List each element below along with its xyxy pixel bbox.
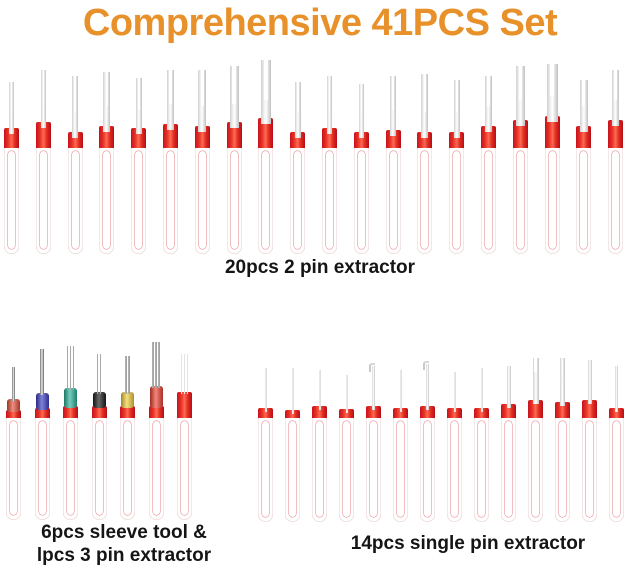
tool-handle bbox=[393, 412, 408, 522]
tool-handle bbox=[474, 412, 489, 522]
tool-handle bbox=[63, 412, 78, 520]
tool-single-pin-extractor bbox=[555, 372, 570, 522]
tool-single-pin-extractor bbox=[339, 372, 354, 522]
tool-fork-slot bbox=[582, 80, 585, 106]
tool-needle bbox=[615, 366, 618, 412]
tool-fork-slot bbox=[519, 66, 523, 100]
tool-prong bbox=[40, 349, 44, 395]
tool-needle bbox=[533, 358, 539, 404]
tool-sleeve-collar bbox=[150, 386, 163, 408]
tool-handle bbox=[528, 412, 543, 522]
tool-2-pin-extractor bbox=[481, 104, 496, 254]
tool-blade bbox=[421, 74, 428, 138]
tool-prong bbox=[181, 354, 183, 394]
tool-handle bbox=[420, 412, 435, 522]
tool-fork-slot bbox=[74, 76, 76, 112]
tool-single-pin-extractor bbox=[528, 372, 543, 522]
tool-blade bbox=[359, 84, 364, 138]
tool-single-pin-extractor bbox=[285, 372, 300, 522]
tool-fork-slot bbox=[487, 76, 490, 106]
tool-sleeve bbox=[35, 370, 50, 520]
tool-2-pin-extractor bbox=[68, 104, 83, 254]
tool-handle bbox=[481, 142, 496, 254]
tool-fork-slot bbox=[392, 76, 394, 110]
tool-handle bbox=[35, 412, 50, 520]
tool-fork-slot bbox=[456, 80, 458, 112]
tool-2-pin-extractor bbox=[258, 104, 273, 254]
tool-2-pin-extractor bbox=[576, 104, 591, 254]
tool-sleeve-collar bbox=[93, 392, 106, 408]
tool-fork-slot bbox=[138, 78, 140, 110]
tool-single-pin-extractor bbox=[366, 372, 381, 522]
tool-handle bbox=[449, 142, 464, 254]
tool-handle bbox=[417, 142, 432, 254]
tool-2-pin-extractor bbox=[354, 104, 369, 254]
tool-handle bbox=[68, 142, 83, 254]
tool-blade bbox=[136, 78, 142, 134]
tool-single-pin-extractor bbox=[420, 372, 435, 522]
tool-handle bbox=[609, 412, 624, 522]
tool-fork-slot bbox=[264, 60, 268, 100]
tool-prong bbox=[155, 342, 157, 388]
tool-2-pin-extractor bbox=[386, 104, 401, 254]
tool-needle bbox=[588, 360, 592, 404]
tool-2-pin-extractor bbox=[608, 104, 623, 254]
tool-handle bbox=[195, 142, 210, 254]
tool-sleeve-collar bbox=[36, 393, 49, 410]
tool-2-pin-extractor bbox=[36, 104, 51, 254]
tool-handle bbox=[354, 142, 369, 254]
tool-handle bbox=[555, 412, 570, 522]
tool-prong bbox=[158, 342, 160, 388]
tool-prong bbox=[67, 346, 69, 390]
tool-needle bbox=[346, 375, 348, 413]
tool-prong bbox=[97, 354, 99, 394]
tool-single-pin-extractor bbox=[501, 372, 516, 522]
tool-sleeve bbox=[63, 370, 78, 520]
tool-prong bbox=[70, 346, 72, 390]
tool-handle bbox=[120, 412, 135, 520]
tool-prong bbox=[184, 354, 186, 394]
tool-handle bbox=[149, 412, 164, 520]
tool-hook-tip bbox=[369, 363, 375, 372]
tool-2-pin-extractor bbox=[195, 104, 210, 254]
tool-prong bbox=[187, 354, 189, 394]
tool-fork-slot bbox=[201, 70, 204, 106]
tool-fork-slot bbox=[11, 82, 13, 112]
tool-handle bbox=[447, 412, 462, 522]
tool-handle bbox=[177, 412, 192, 520]
tool-blade bbox=[103, 72, 110, 132]
tool-fork-slot bbox=[43, 70, 45, 104]
tool-hook-tip bbox=[423, 361, 429, 370]
tool-handle bbox=[312, 412, 327, 522]
tool-sleeve bbox=[6, 370, 21, 520]
tool-needle bbox=[454, 372, 456, 412]
tool-handle bbox=[501, 412, 516, 522]
tool-2-pin-extractor bbox=[417, 104, 432, 254]
tool-3-pin-extractor bbox=[177, 370, 192, 520]
tool-row-single-pin-extractor bbox=[258, 378, 636, 522]
tool-fork-slot bbox=[361, 84, 363, 114]
tool-single-pin-extractor bbox=[447, 372, 462, 522]
tool-blade bbox=[485, 76, 492, 132]
tool-handle bbox=[339, 412, 354, 522]
tool-prong bbox=[73, 346, 75, 390]
tool-sleeve-collar bbox=[64, 388, 77, 408]
tool-blade bbox=[547, 64, 558, 122]
tool-handle bbox=[6, 412, 21, 520]
tool-prong bbox=[128, 356, 130, 394]
tool-handle bbox=[582, 412, 597, 522]
tool-2-pin-extractor bbox=[449, 104, 464, 254]
tool-needle bbox=[426, 364, 429, 410]
tool-prong bbox=[12, 367, 15, 401]
tool-handle bbox=[163, 142, 178, 254]
tool-fork-slot bbox=[106, 72, 109, 106]
page-title: Comprehensive 41PCS Set bbox=[0, 0, 640, 46]
tool-2-pin-extractor bbox=[513, 104, 528, 254]
tool-sleeve bbox=[92, 370, 107, 520]
tool-blade bbox=[327, 76, 332, 134]
tool-fork-slot bbox=[614, 70, 617, 100]
tool-handle bbox=[366, 412, 381, 522]
tool-handle bbox=[36, 142, 51, 254]
tool-handle bbox=[545, 142, 560, 254]
tool-2-pin-extractor bbox=[163, 104, 178, 254]
tool-handle bbox=[322, 142, 337, 254]
caption-sleeve-line-2: lpcs 3 pin extractor bbox=[6, 544, 242, 567]
tool-handle bbox=[258, 412, 273, 522]
tool-handle bbox=[4, 142, 19, 254]
tool-needle bbox=[507, 366, 511, 408]
tool-fork-slot bbox=[424, 74, 427, 112]
tool-single-pin-extractor bbox=[582, 372, 597, 522]
tool-blade bbox=[198, 70, 206, 132]
tool-needle bbox=[560, 358, 565, 406]
caption-single-pin-extractor: 14pcs single pin extractor bbox=[296, 532, 640, 555]
tool-single-pin-extractor bbox=[393, 372, 408, 522]
tool-needle bbox=[265, 368, 267, 412]
tool-blade bbox=[41, 70, 46, 128]
tool-blade bbox=[167, 70, 174, 130]
tool-handle bbox=[386, 142, 401, 254]
tool-handle bbox=[576, 142, 591, 254]
tool-blade bbox=[9, 82, 14, 134]
tool-blade bbox=[580, 80, 588, 132]
tool-fork-slot bbox=[550, 64, 555, 96]
tool-blade bbox=[295, 82, 301, 138]
tool-fork-slot bbox=[329, 76, 331, 108]
caption-sleeve-line-1: 6pcs sleeve tool & bbox=[6, 521, 242, 544]
product-image: Comprehensive 41PCS Set 20pcs 2 pin extr… bbox=[0, 0, 640, 573]
tool-needle bbox=[372, 366, 375, 410]
tool-2-pin-extractor bbox=[545, 104, 560, 254]
tool-single-pin-extractor bbox=[609, 372, 624, 522]
tool-fork-slot bbox=[232, 66, 236, 104]
tool-needle bbox=[292, 368, 294, 414]
tool-blade bbox=[72, 76, 78, 138]
tool-fork-slot bbox=[534, 358, 537, 372]
tool-handle bbox=[290, 142, 305, 254]
tool-2-pin-extractor bbox=[131, 104, 146, 254]
tool-handle bbox=[227, 142, 242, 254]
tool-row-sleeve-tool bbox=[6, 362, 218, 520]
tool-prong bbox=[125, 356, 127, 394]
tool-fork-slot bbox=[169, 70, 172, 104]
tool-handle bbox=[92, 412, 107, 520]
tool-needle bbox=[400, 370, 402, 412]
tool-prong bbox=[152, 342, 154, 388]
tool-blade bbox=[516, 66, 525, 126]
caption-sleeve-tool: 6pcs sleeve tool & lpcs 3 pin extractor bbox=[6, 521, 242, 567]
tool-single-pin-extractor bbox=[312, 372, 327, 522]
tool-prong bbox=[100, 354, 102, 394]
tool-sleeve bbox=[120, 370, 135, 520]
caption-2-pin-extractor: 20pcs 2 pin extractor bbox=[0, 256, 640, 279]
tool-single-pin-extractor bbox=[474, 372, 489, 522]
tool-single-pin-extractor bbox=[258, 372, 273, 522]
tool-2-pin-extractor bbox=[99, 104, 114, 254]
tool-row-2-pin-extractor bbox=[4, 108, 638, 254]
tool-2-pin-extractor bbox=[322, 104, 337, 254]
tool-2-pin-extractor bbox=[227, 104, 242, 254]
tool-blade bbox=[390, 76, 396, 136]
tool-handle bbox=[258, 142, 273, 254]
tool-sleeve bbox=[149, 370, 164, 520]
tool-sleeve-collar bbox=[121, 392, 134, 408]
tool-handle bbox=[608, 142, 623, 254]
tool-needle bbox=[319, 370, 321, 410]
tool-blade bbox=[612, 70, 619, 126]
tool-handle bbox=[285, 412, 300, 522]
tool-blade bbox=[230, 66, 239, 128]
tool-handle bbox=[99, 142, 114, 254]
tool-2-pin-extractor bbox=[4, 104, 19, 254]
tool-ferrule bbox=[177, 392, 192, 418]
tool-2-pin-extractor bbox=[290, 104, 305, 254]
tool-handle bbox=[513, 142, 528, 254]
tool-handle bbox=[131, 142, 146, 254]
tool-blade bbox=[261, 60, 271, 124]
tool-blade bbox=[454, 80, 460, 138]
tool-fork-slot bbox=[297, 82, 299, 112]
tool-needle bbox=[481, 368, 483, 412]
